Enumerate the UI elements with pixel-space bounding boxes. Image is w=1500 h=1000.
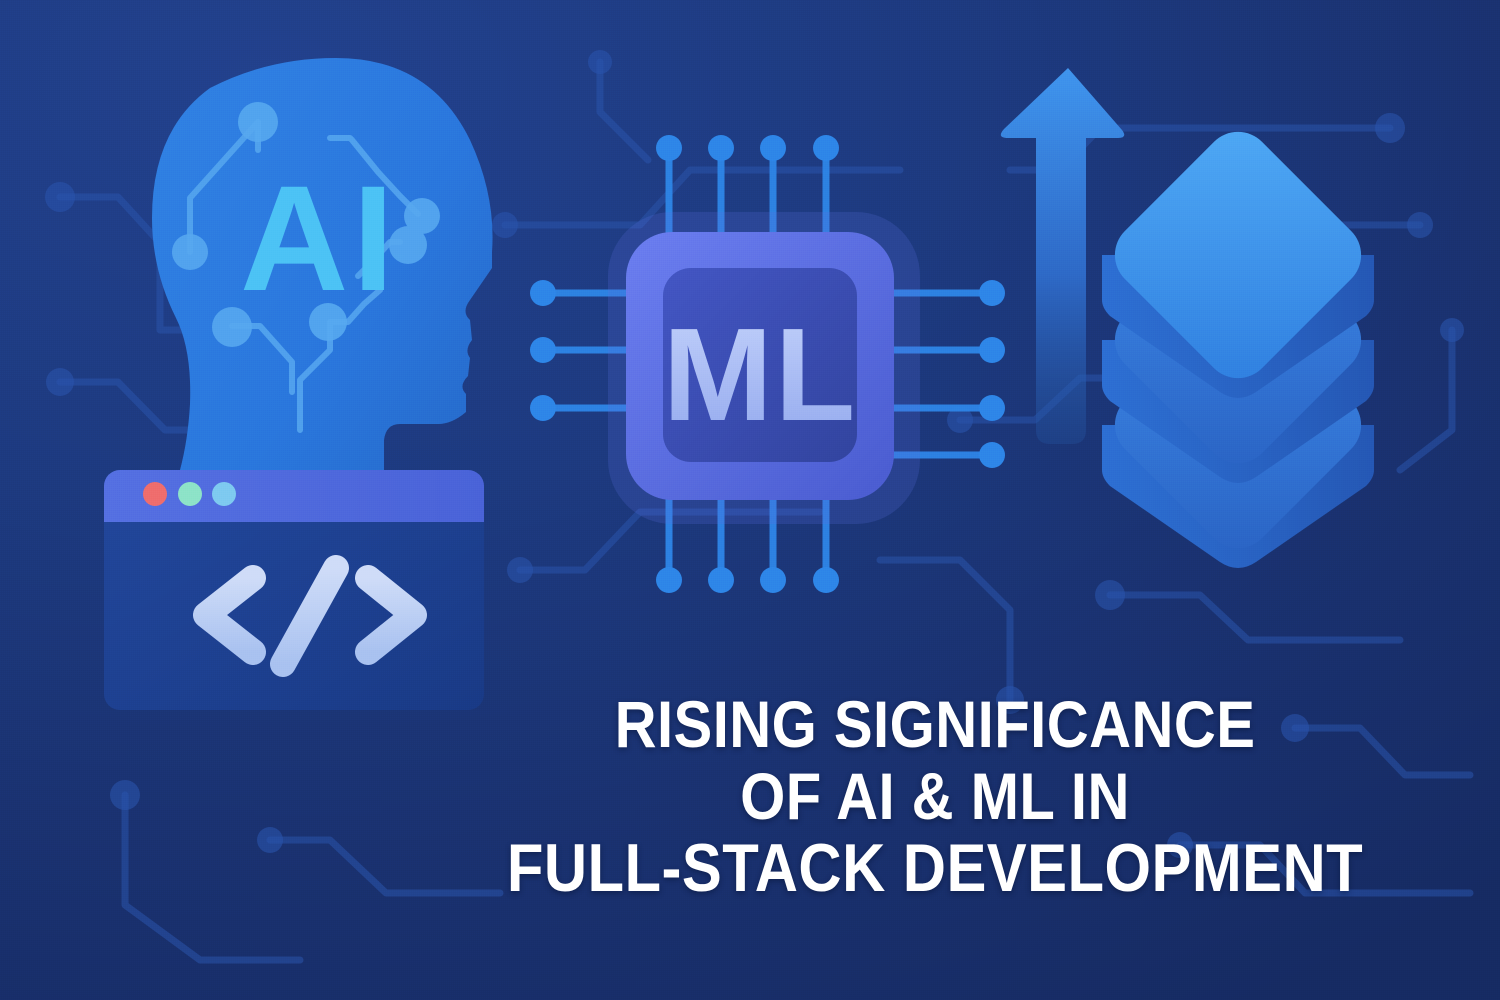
poster-canvas: AI [0, 0, 1500, 1000]
title-line-3: FULL-STACK DEVELOPMENT [464, 832, 1406, 904]
maximize-dot [212, 482, 236, 506]
minimize-dot [178, 482, 202, 506]
poster-title: RISING SIGNIFICANCE OF AI & ML IN FULL-S… [400, 688, 1470, 904]
title-line-2: OF AI & ML IN [464, 760, 1406, 832]
close-dot [143, 482, 167, 506]
title-line-1: RISING SIGNIFICANCE [464, 688, 1406, 760]
